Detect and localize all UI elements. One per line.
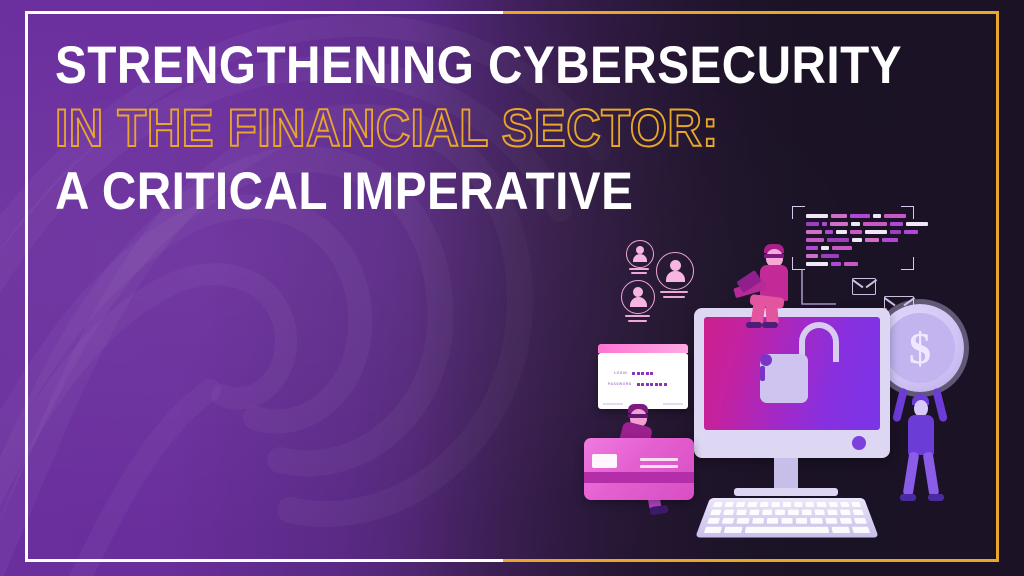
cybersecurity-illustration: $ — [596, 196, 1016, 556]
avatar-base — [660, 291, 688, 293]
banner: STRENGTHENING CYBERSECURITY IN THE FINAN… — [0, 0, 1024, 576]
credit-card — [584, 438, 694, 500]
frame-top-white — [25, 11, 503, 14]
person-lifting-coin — [892, 382, 956, 512]
code-line — [806, 222, 928, 226]
monitor-power-dot — [852, 436, 866, 450]
frame-top-gold — [503, 11, 999, 14]
hacker-on-monitor — [736, 244, 816, 324]
keyboard-row — [710, 510, 864, 515]
login-field-row: LOGIN — [614, 371, 653, 375]
avatar — [656, 252, 694, 290]
title-line-2: IN THE FINANCIAL SECTOR: — [55, 103, 775, 155]
code-line — [806, 238, 898, 242]
avatar-base — [631, 272, 647, 274]
avatar-base — [629, 268, 649, 270]
title-line-1: STRENGTHENING CYBERSECURITY — [55, 40, 775, 92]
envelope-icon — [852, 278, 876, 295]
password-label: PASSWORD — [608, 382, 632, 386]
monitor-stand-base — [734, 488, 838, 496]
password-value-dots — [637, 383, 667, 386]
credit-card-chip — [592, 454, 617, 468]
password-field-row: PASSWORD — [608, 382, 667, 386]
login-dialog: LOGIN PASSWORD — [598, 353, 688, 409]
login-label: LOGIN — [614, 371, 627, 375]
avatar-base — [625, 315, 650, 317]
frame-bottom-white — [25, 559, 503, 562]
login-value-dots — [632, 372, 653, 375]
login-dialog-titlebar — [598, 344, 688, 353]
avatar — [621, 280, 655, 314]
frame-left-white — [25, 11, 28, 562]
credit-card-line — [640, 465, 678, 468]
keyboard-row — [707, 518, 867, 524]
code-line — [806, 230, 918, 234]
avatar-base — [663, 296, 685, 298]
avatar — [626, 240, 654, 268]
credit-card-magstripe — [584, 472, 694, 483]
monitor-stand-neck — [774, 458, 798, 490]
keyboard-row — [704, 527, 870, 533]
credit-card-line — [640, 458, 678, 461]
keyboard-row — [713, 502, 861, 507]
keyboard — [695, 498, 879, 537]
page-title: STRENGTHENING CYBERSECURITY IN THE FINAN… — [55, 40, 855, 218]
frame-bottom-gold — [503, 559, 999, 562]
code-corner-tl — [792, 206, 805, 219]
padlock-body-icon — [760, 354, 808, 403]
code-line — [806, 214, 906, 218]
avatar-base — [628, 320, 647, 322]
